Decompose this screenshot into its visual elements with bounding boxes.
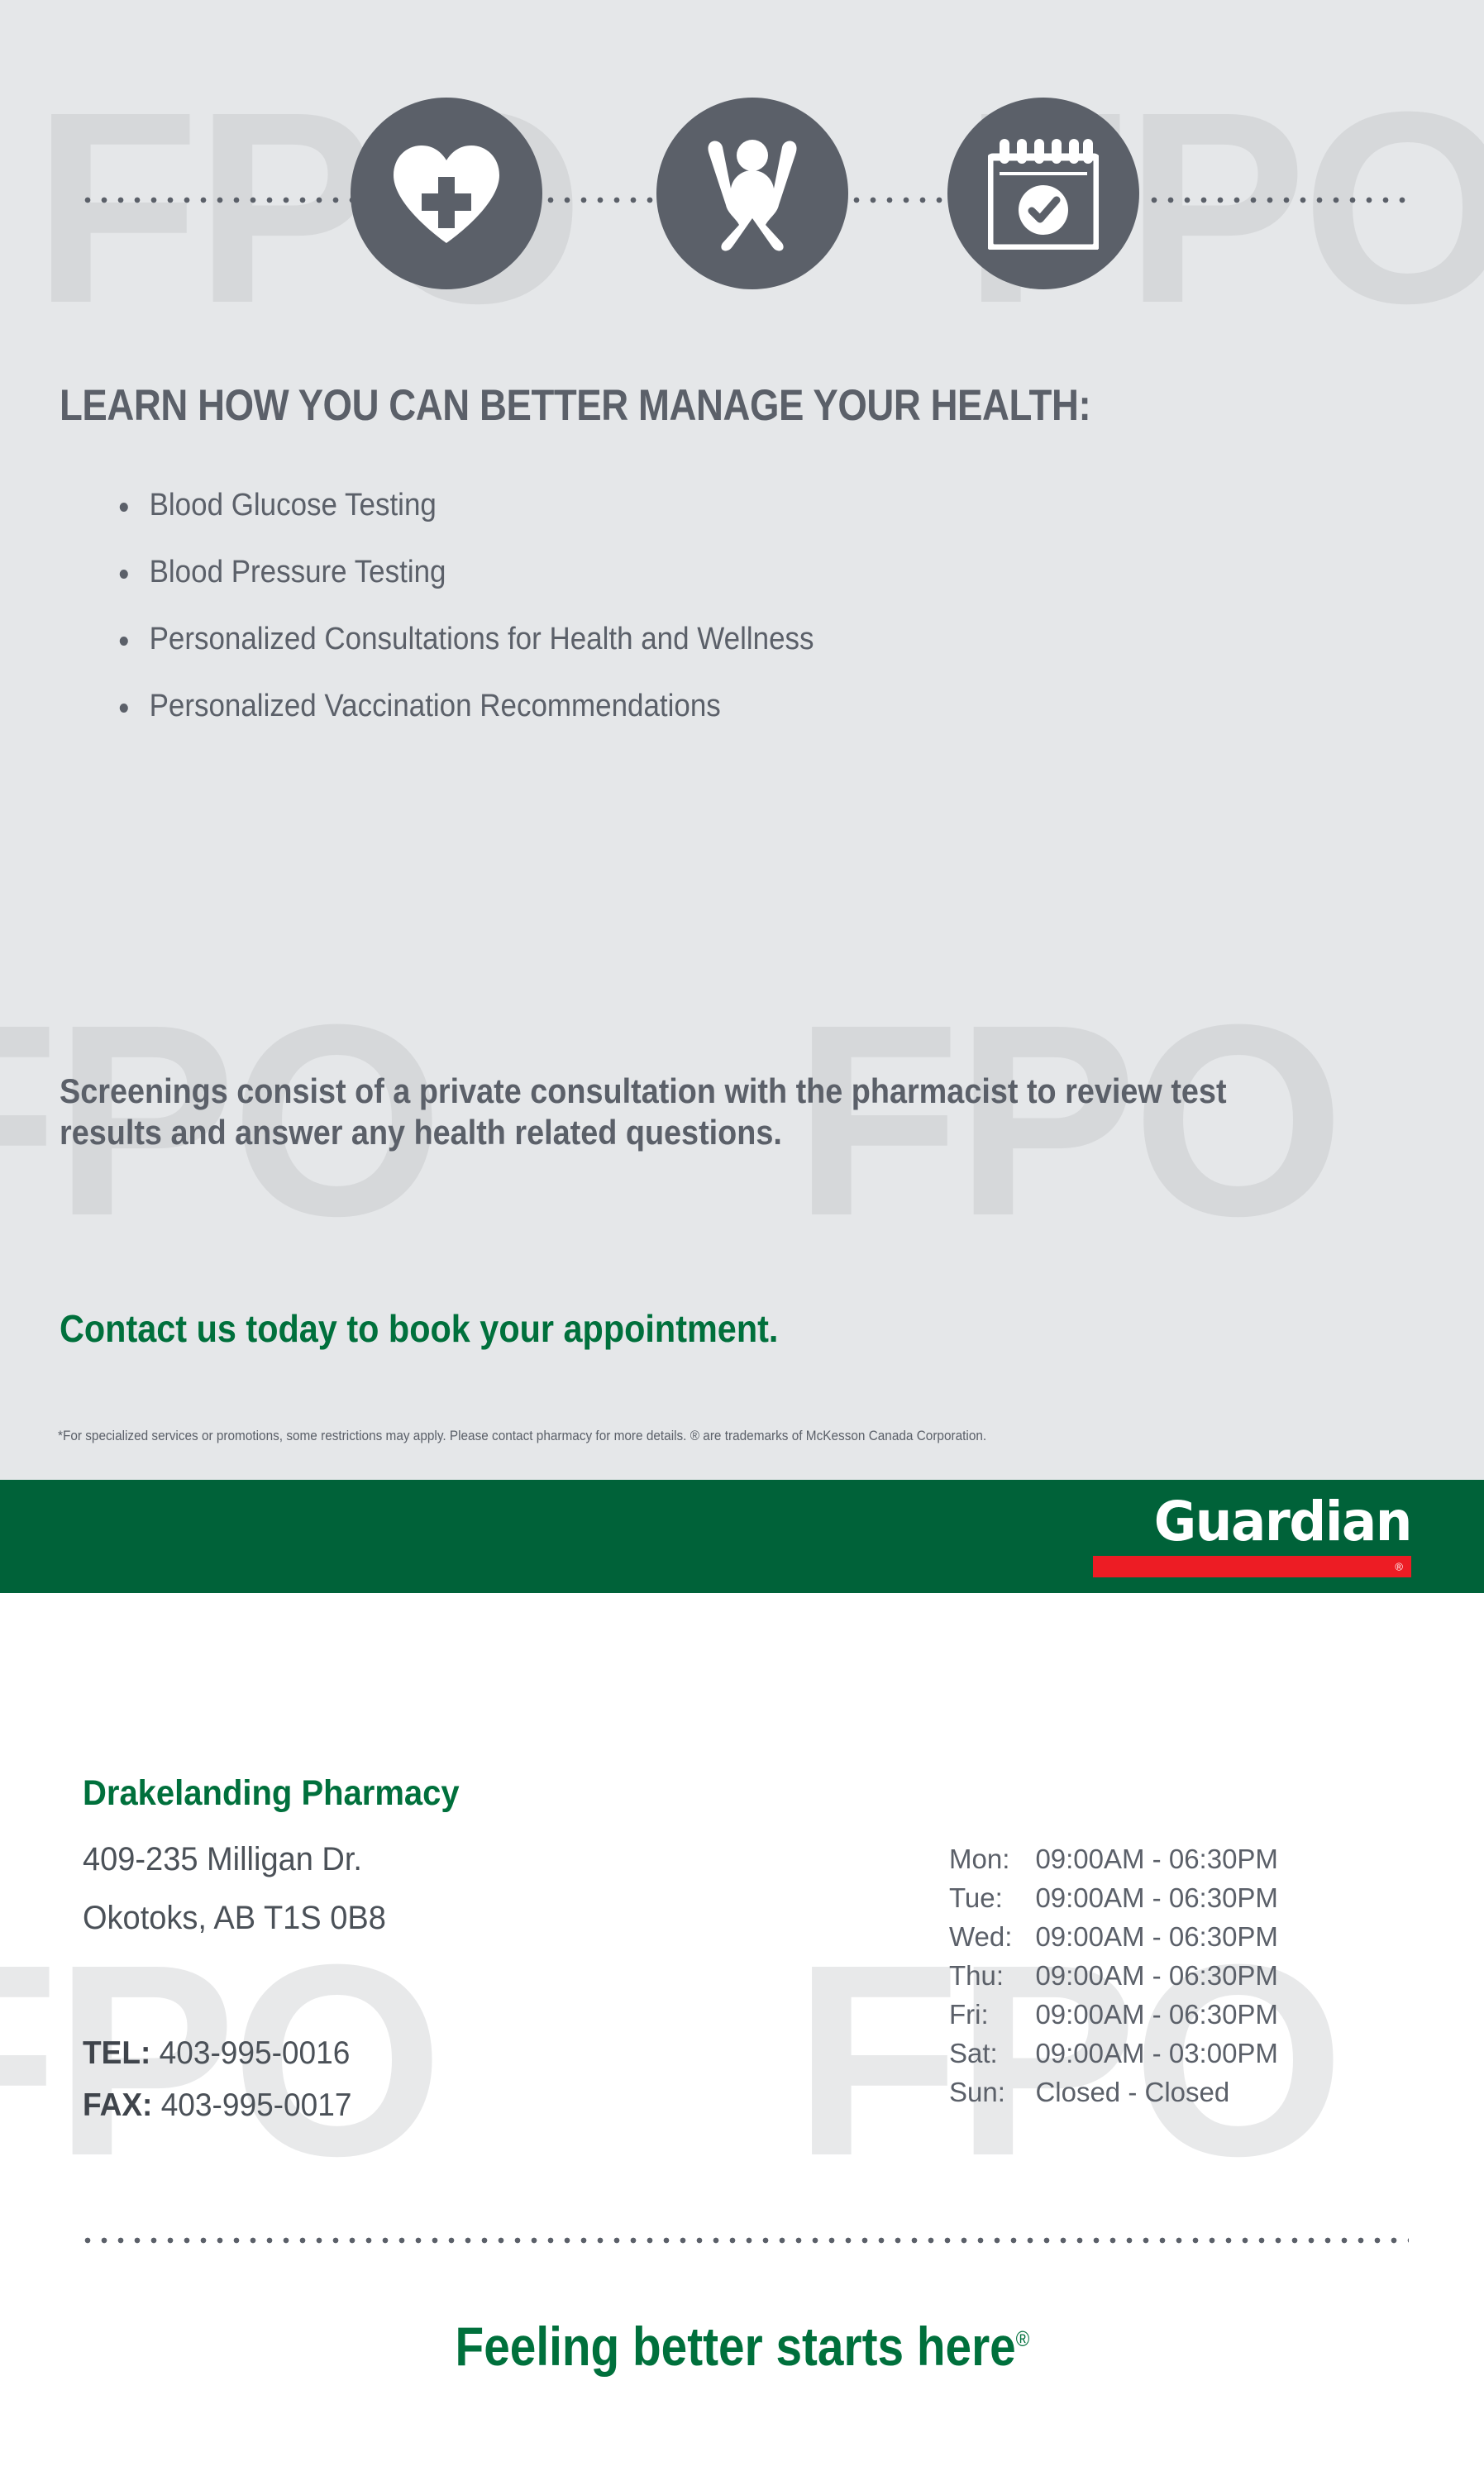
hours-day: Sun:: [949, 2077, 1035, 2116]
icon-row: [0, 98, 1484, 304]
person-arms-raised-icon: [656, 98, 848, 289]
hours-time: 09:00AM - 06:30PM: [1035, 1844, 1278, 1882]
store-address-line-1: 409-235 Milligan Dr.: [83, 1841, 362, 1878]
hours-day: Sat:: [949, 2038, 1035, 2077]
hours-day: Mon:: [949, 1844, 1035, 1882]
hours-time: 09:00AM - 06:30PM: [1035, 1882, 1278, 1921]
list-item: Personalized Consultations for Health an…: [107, 622, 814, 657]
pharmacy-poster: FPO FPO FPO FPO: [0, 0, 1484, 2476]
store-fax: FAX: 403-995-0017: [83, 2087, 351, 2124]
list-item: Personalized Vaccination Recommendations: [107, 689, 814, 724]
services-list: Blood Glucose Testing Blood Pressure Tes…: [107, 488, 876, 756]
tel-value: 403-995-0016: [160, 2035, 351, 2071]
heart-plus-icon: [351, 98, 542, 289]
hours-day: Tue:: [949, 1882, 1035, 1921]
screening-description: Screenings consist of a private consulta…: [60, 1071, 1280, 1152]
hours-time: 09:00AM - 06:30PM: [1035, 1999, 1278, 2038]
guardian-wordmark: Guardian: [1109, 1495, 1411, 1549]
table-row: Sat: 09:00AM - 03:00PM: [949, 2038, 1278, 2077]
store-hours-table: Mon: 09:00AM - 06:30PM Tue: 09:00AM - 06…: [949, 1844, 1278, 2116]
hours-time: 09:00AM - 06:30PM: [1035, 1921, 1278, 1960]
table-row: Wed: 09:00AM - 06:30PM: [949, 1921, 1278, 1960]
dotted-divider: [79, 2235, 1409, 2245]
guardian-red-rule: ®: [1093, 1556, 1411, 1577]
table-row: Tue: 09:00AM - 06:30PM: [949, 1882, 1278, 1921]
registered-mark: ®: [1395, 1562, 1403, 1572]
tagline-registered-mark: ®: [1015, 2326, 1028, 2351]
call-to-action-text: Contact us today to book your appointmen…: [60, 1306, 778, 1351]
table-row: Mon: 09:00AM - 06:30PM: [949, 1844, 1278, 1882]
hours-time: 09:00AM - 03:00PM: [1035, 2038, 1278, 2077]
footer-tagline: Feeling better starts here®: [0, 2315, 1484, 2378]
store-name: Drakelanding Pharmacy: [83, 1773, 460, 1814]
table-row: Sun: Closed - Closed: [949, 2077, 1278, 2116]
hours-time: Closed - Closed: [1035, 2077, 1278, 2116]
table-row: Fri: 09:00AM - 06:30PM: [949, 1999, 1278, 2038]
page-title: LEARN HOW YOU CAN BETTER MANAGE YOUR HEA…: [60, 380, 1090, 431]
tagline-words: Feeling better starts here: [455, 2316, 1015, 2377]
list-item: Blood Glucose Testing: [107, 488, 814, 523]
store-telephone: TEL: 403-995-0016: [83, 2035, 350, 2072]
hours-time: 09:00AM - 06:30PM: [1035, 1960, 1278, 1999]
brand-banner: Guardian ®: [0, 1480, 1484, 1593]
hours-day: Fri:: [949, 1999, 1035, 2038]
calendar-check-icon: [947, 98, 1139, 289]
table-row: Thu: 09:00AM - 06:30PM: [949, 1960, 1278, 1999]
hours-day: Wed:: [949, 1921, 1035, 1960]
list-item: Blood Pressure Testing: [107, 555, 814, 590]
tagline-text: Feeling better starts here®: [455, 2315, 1029, 2378]
fax-value: 403-995-0017: [161, 2087, 352, 2123]
legal-disclaimer: *For specialized services or promotions,…: [58, 1429, 986, 1444]
tel-label: TEL:: [83, 2035, 150, 2071]
guardian-logo: Guardian ®: [1093, 1495, 1411, 1577]
hours-day: Thu:: [949, 1960, 1035, 1999]
top-panel: FPO FPO FPO FPO: [0, 0, 1484, 1480]
fax-label: FAX:: [83, 2087, 152, 2123]
store-address-line-2: Okotoks, AB T1S 0B8: [83, 1900, 386, 1937]
